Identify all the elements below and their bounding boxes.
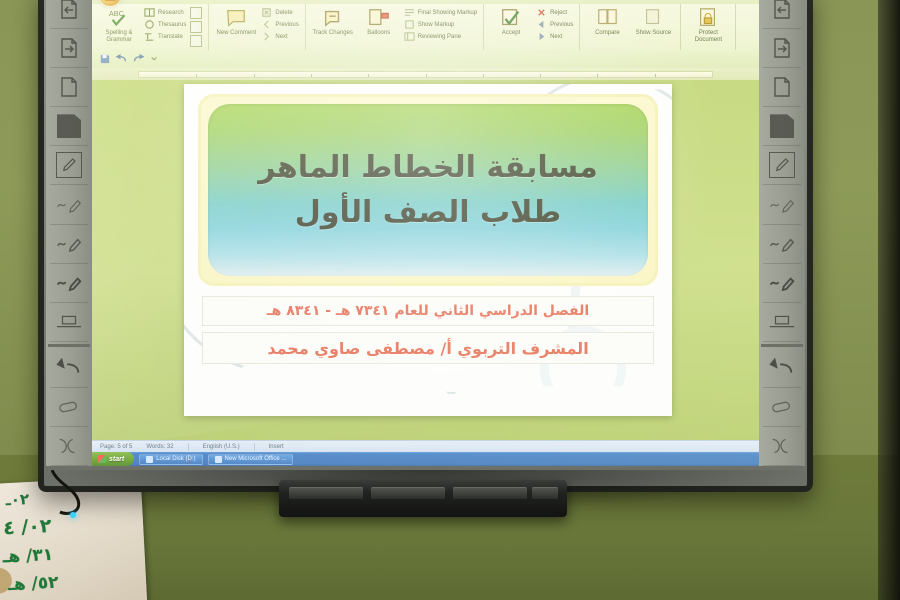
- previous-comment-label: Previous: [275, 22, 298, 28]
- protect-document-button[interactable]: Protect Document: [687, 7, 729, 44]
- quick-access-toolbar[interactable]: [92, 50, 759, 68]
- previous-page-icon[interactable]: [50, 0, 88, 29]
- next-change-label: Next: [550, 34, 562, 40]
- redo-icon[interactable]: [763, 427, 801, 466]
- eraser-icon[interactable]: [50, 388, 88, 427]
- balloons-button[interactable]: Balloons: [358, 7, 400, 37]
- protect-document-label: Protect Document: [687, 30, 729, 44]
- redo-icon[interactable]: [50, 427, 88, 466]
- document-page[interactable]: مسابقة الخطاط الماهر طلاب الصف الأول الف…: [184, 84, 672, 416]
- wall-note-line-1: ٢٠ـ: [5, 490, 29, 509]
- proofing-mini-icons[interactable]: [190, 7, 202, 47]
- pen-slot-black[interactable]: [289, 487, 363, 499]
- title-banner: مسابقة الخطاط الماهر طلاب الصف الأول: [198, 94, 658, 286]
- word-document-icon: [215, 456, 222, 463]
- status-word-count[interactable]: Words: 32: [146, 444, 173, 450]
- pen-thick-icon[interactable]: [763, 264, 801, 303]
- display-for-review-dropdown[interactable]: Final Showing Markup: [404, 7, 477, 18]
- status-divider: [188, 443, 189, 451]
- document-workspace[interactable]: مسابقة الخطاط الماهر طلاب الصف الأول الف…: [92, 68, 759, 440]
- status-language[interactable]: English (U.S.): [203, 444, 240, 450]
- pen-thick-icon[interactable]: [50, 264, 88, 303]
- word-count-icon[interactable]: [190, 35, 202, 47]
- keyboard-icon[interactable]: [763, 303, 801, 342]
- reject-label: Reject: [550, 10, 567, 16]
- word-status-bar[interactable]: Page: 5 of 5 Words: 32 English (U.S.) In…: [92, 440, 759, 452]
- show-markup-button[interactable]: Show Markup: [404, 19, 477, 30]
- new-comment-label: New Comment: [217, 30, 257, 37]
- new-page-icon[interactable]: [50, 68, 88, 107]
- windows-flag-icon: [98, 455, 106, 463]
- compare-label: Compare: [595, 30, 620, 37]
- taskbar-item-local-disk[interactable]: Local Disk (D:): [139, 454, 202, 465]
- translate-label: Translate: [158, 34, 183, 40]
- classroom-scene: ٢٠ـ ٢٠/ ٤ ١٣/ هـ ٢٥/ هـ: [0, 0, 900, 600]
- accept-label: Accept: [502, 30, 520, 37]
- research-label: Research: [158, 10, 184, 16]
- language-icon[interactable]: [190, 7, 202, 19]
- document-title-line-2: طلاب الصف الأول: [295, 195, 561, 230]
- show-markup-label: Show Markup: [418, 22, 455, 28]
- eraser-slot[interactable]: [532, 487, 558, 499]
- new-page-icon[interactable]: [763, 68, 801, 107]
- word-window[interactable]: Home Insert Page Layout References Maili…: [92, 0, 759, 466]
- undo-icon[interactable]: [50, 349, 88, 388]
- power-cable: [40, 470, 130, 530]
- chevron-down-icon[interactable]: [150, 55, 158, 63]
- ruler-band: [138, 71, 713, 78]
- pen-tray[interactable]: [279, 480, 567, 517]
- pen-slot-red[interactable]: [371, 487, 445, 499]
- status-divider: [254, 443, 255, 451]
- keyboard-icon[interactable]: [50, 303, 88, 342]
- toolbar-divider: [48, 344, 90, 347]
- pen-slot-blue[interactable]: [453, 487, 527, 499]
- document-title-line-1: مسابقة الخطاط الماهر: [258, 150, 598, 185]
- folder-icon: [146, 456, 153, 463]
- reviewing-pane-button[interactable]: Reviewing Pane: [404, 31, 477, 42]
- wall-corner-shadow: [878, 0, 900, 600]
- pen-medium-icon[interactable]: [763, 225, 801, 264]
- interactive-whiteboard[interactable]: Home Insert Page Layout References Maili…: [38, 0, 813, 492]
- wall-note-line-3: ١٣/ هـ: [2, 545, 53, 568]
- research-button[interactable]: Research: [144, 7, 186, 18]
- translation-screentip-icon[interactable]: [190, 21, 202, 33]
- next-change-button[interactable]: Next: [536, 31, 573, 42]
- wall-note-line-4: ٢٥/ هـ: [8, 573, 59, 596]
- reject-button[interactable]: Reject: [536, 7, 573, 18]
- show-source-label: Show Source: [636, 30, 672, 37]
- spelling-grammar-button[interactable]: ABC Spelling & Grammar: [98, 7, 140, 44]
- subtitle-box-term: الفصل الدراسي الثاني للعام ١٤٣٧ هـ - ١٤٣…: [202, 296, 654, 326]
- title-banner-gradient: مسابقة الخطاط الماهر طلاب الصف الأول: [208, 104, 648, 276]
- eraser-icon[interactable]: [763, 388, 801, 427]
- select-pen-icon[interactable]: [50, 146, 88, 185]
- undo-icon[interactable]: [116, 54, 127, 64]
- taskbar-item-label: Local Disk (D:): [156, 456, 195, 462]
- subtitle-term-text: الفصل الدراسي الثاني للعام ١٤٣٧ هـ - ١٤٣…: [267, 303, 589, 319]
- subtitle-box-supervisor: المشرف التربوي أ/ مصطفى صاوي محمد: [202, 332, 654, 364]
- previous-page-icon[interactable]: [763, 0, 801, 29]
- status-page-count: Page: 5 of 5: [100, 444, 132, 450]
- previous-change-label: Previous: [550, 22, 573, 28]
- track-changes-button[interactable]: Track Changes: [312, 7, 354, 37]
- black-page-icon[interactable]: [763, 107, 801, 146]
- office-logo-icon: [105, 0, 116, 1]
- taskbar-item-word-document[interactable]: New Microsoft Office ...: [208, 454, 294, 465]
- translate-button[interactable]: Translate: [144, 31, 186, 42]
- display-for-review-label: Final Showing Markup: [418, 10, 477, 16]
- show-source-documents-button[interactable]: Show Source: [632, 7, 674, 37]
- reviewing-pane-label: Reviewing Pane: [418, 34, 461, 40]
- projected-screen[interactable]: Home Insert Page Layout References Maili…: [92, 0, 759, 466]
- compare-button[interactable]: Compare: [586, 7, 628, 37]
- accept-button[interactable]: Accept: [490, 7, 532, 37]
- next-page-icon[interactable]: [763, 29, 801, 68]
- next-page-icon[interactable]: [50, 29, 88, 68]
- previous-comment-button[interactable]: Previous: [261, 19, 298, 30]
- delete-comment-label: Delete: [275, 10, 292, 16]
- thesaurus-button[interactable]: Thesaurus: [144, 19, 186, 30]
- horizontal-ruler[interactable]: [92, 68, 759, 80]
- pen-thin-icon[interactable]: [763, 185, 801, 224]
- delete-comment-button[interactable]: Delete: [261, 7, 298, 18]
- track-changes-label: Track Changes: [312, 30, 352, 37]
- select-pen-icon[interactable]: [763, 146, 801, 185]
- next-comment-label: Next: [275, 34, 287, 40]
- windows-taskbar[interactable]: start Local Disk (D:) New Microsoft Offi…: [92, 452, 759, 466]
- next-comment-button[interactable]: Next: [261, 31, 298, 42]
- thesaurus-label: Thesaurus: [158, 22, 186, 28]
- redo-icon[interactable]: [133, 54, 144, 64]
- taskbar-item-label: New Microsoft Office ...: [225, 456, 287, 462]
- new-comment-button[interactable]: New Comment: [215, 7, 257, 37]
- previous-change-button[interactable]: Previous: [536, 19, 573, 30]
- pen-thin-icon[interactable]: [50, 185, 88, 224]
- status-led-indicator: [70, 512, 76, 518]
- spelling-grammar-label: Spelling & Grammar: [98, 30, 140, 44]
- subtitle-supervisor-text: المشرف التربوي أ/ مصطفى صاوي محمد: [267, 339, 588, 358]
- status-insert-mode[interactable]: Insert: [269, 444, 284, 450]
- board-right-toolbar[interactable]: [759, 0, 805, 466]
- undo-icon[interactable]: [763, 349, 801, 388]
- toolbar-divider: [761, 344, 803, 347]
- black-page-icon[interactable]: [50, 107, 88, 146]
- pen-medium-icon[interactable]: [50, 225, 88, 264]
- balloons-label: Balloons: [367, 30, 390, 37]
- save-icon[interactable]: [100, 54, 110, 64]
- board-left-toolbar[interactable]: [46, 0, 92, 466]
- start-button-label: start: [109, 456, 124, 463]
- start-button[interactable]: start: [92, 452, 134, 466]
